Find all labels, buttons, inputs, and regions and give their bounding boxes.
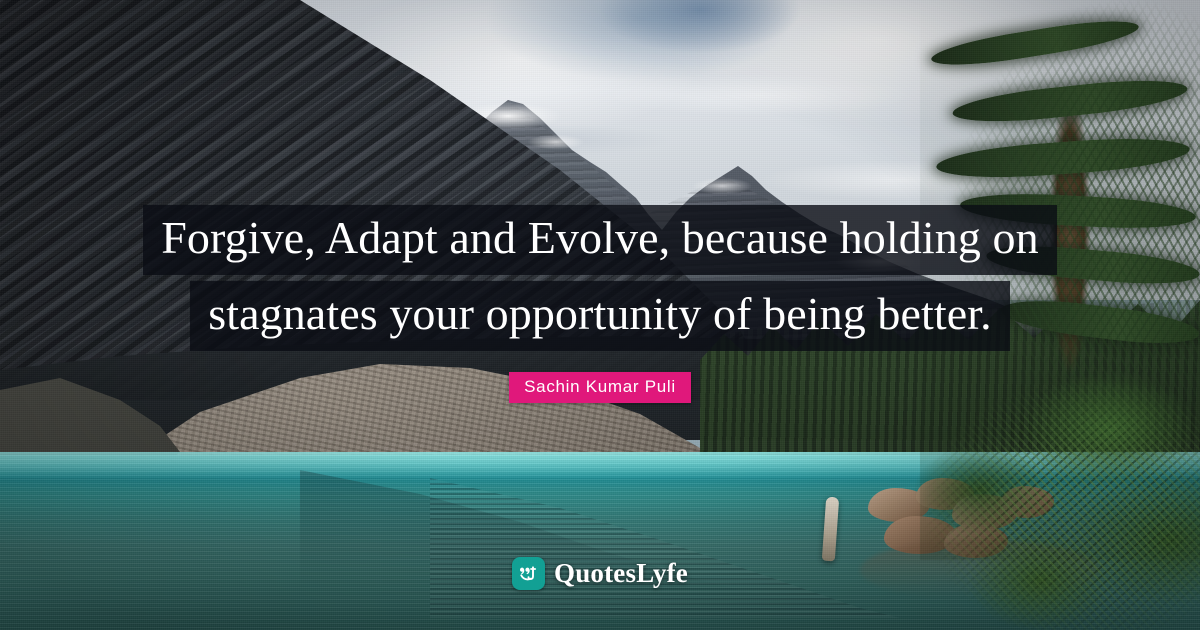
- author-badge-wrapper: Sachin Kumar Puli: [0, 372, 1200, 403]
- brand-logo[interactable]: QuotesLyfe: [0, 557, 1200, 590]
- author-badge[interactable]: Sachin Kumar Puli: [509, 372, 691, 403]
- quote-line-1: Forgive, Adapt and Evolve, because holdi…: [143, 205, 1057, 275]
- quote-line-2: stagnates your opportunity of being bett…: [190, 281, 1010, 351]
- quote-smiley-icon: [512, 557, 545, 590]
- brand-wordmark: QuotesLyfe: [554, 560, 688, 587]
- quote-card: Forgive, Adapt and Evolve, because holdi…: [0, 0, 1200, 630]
